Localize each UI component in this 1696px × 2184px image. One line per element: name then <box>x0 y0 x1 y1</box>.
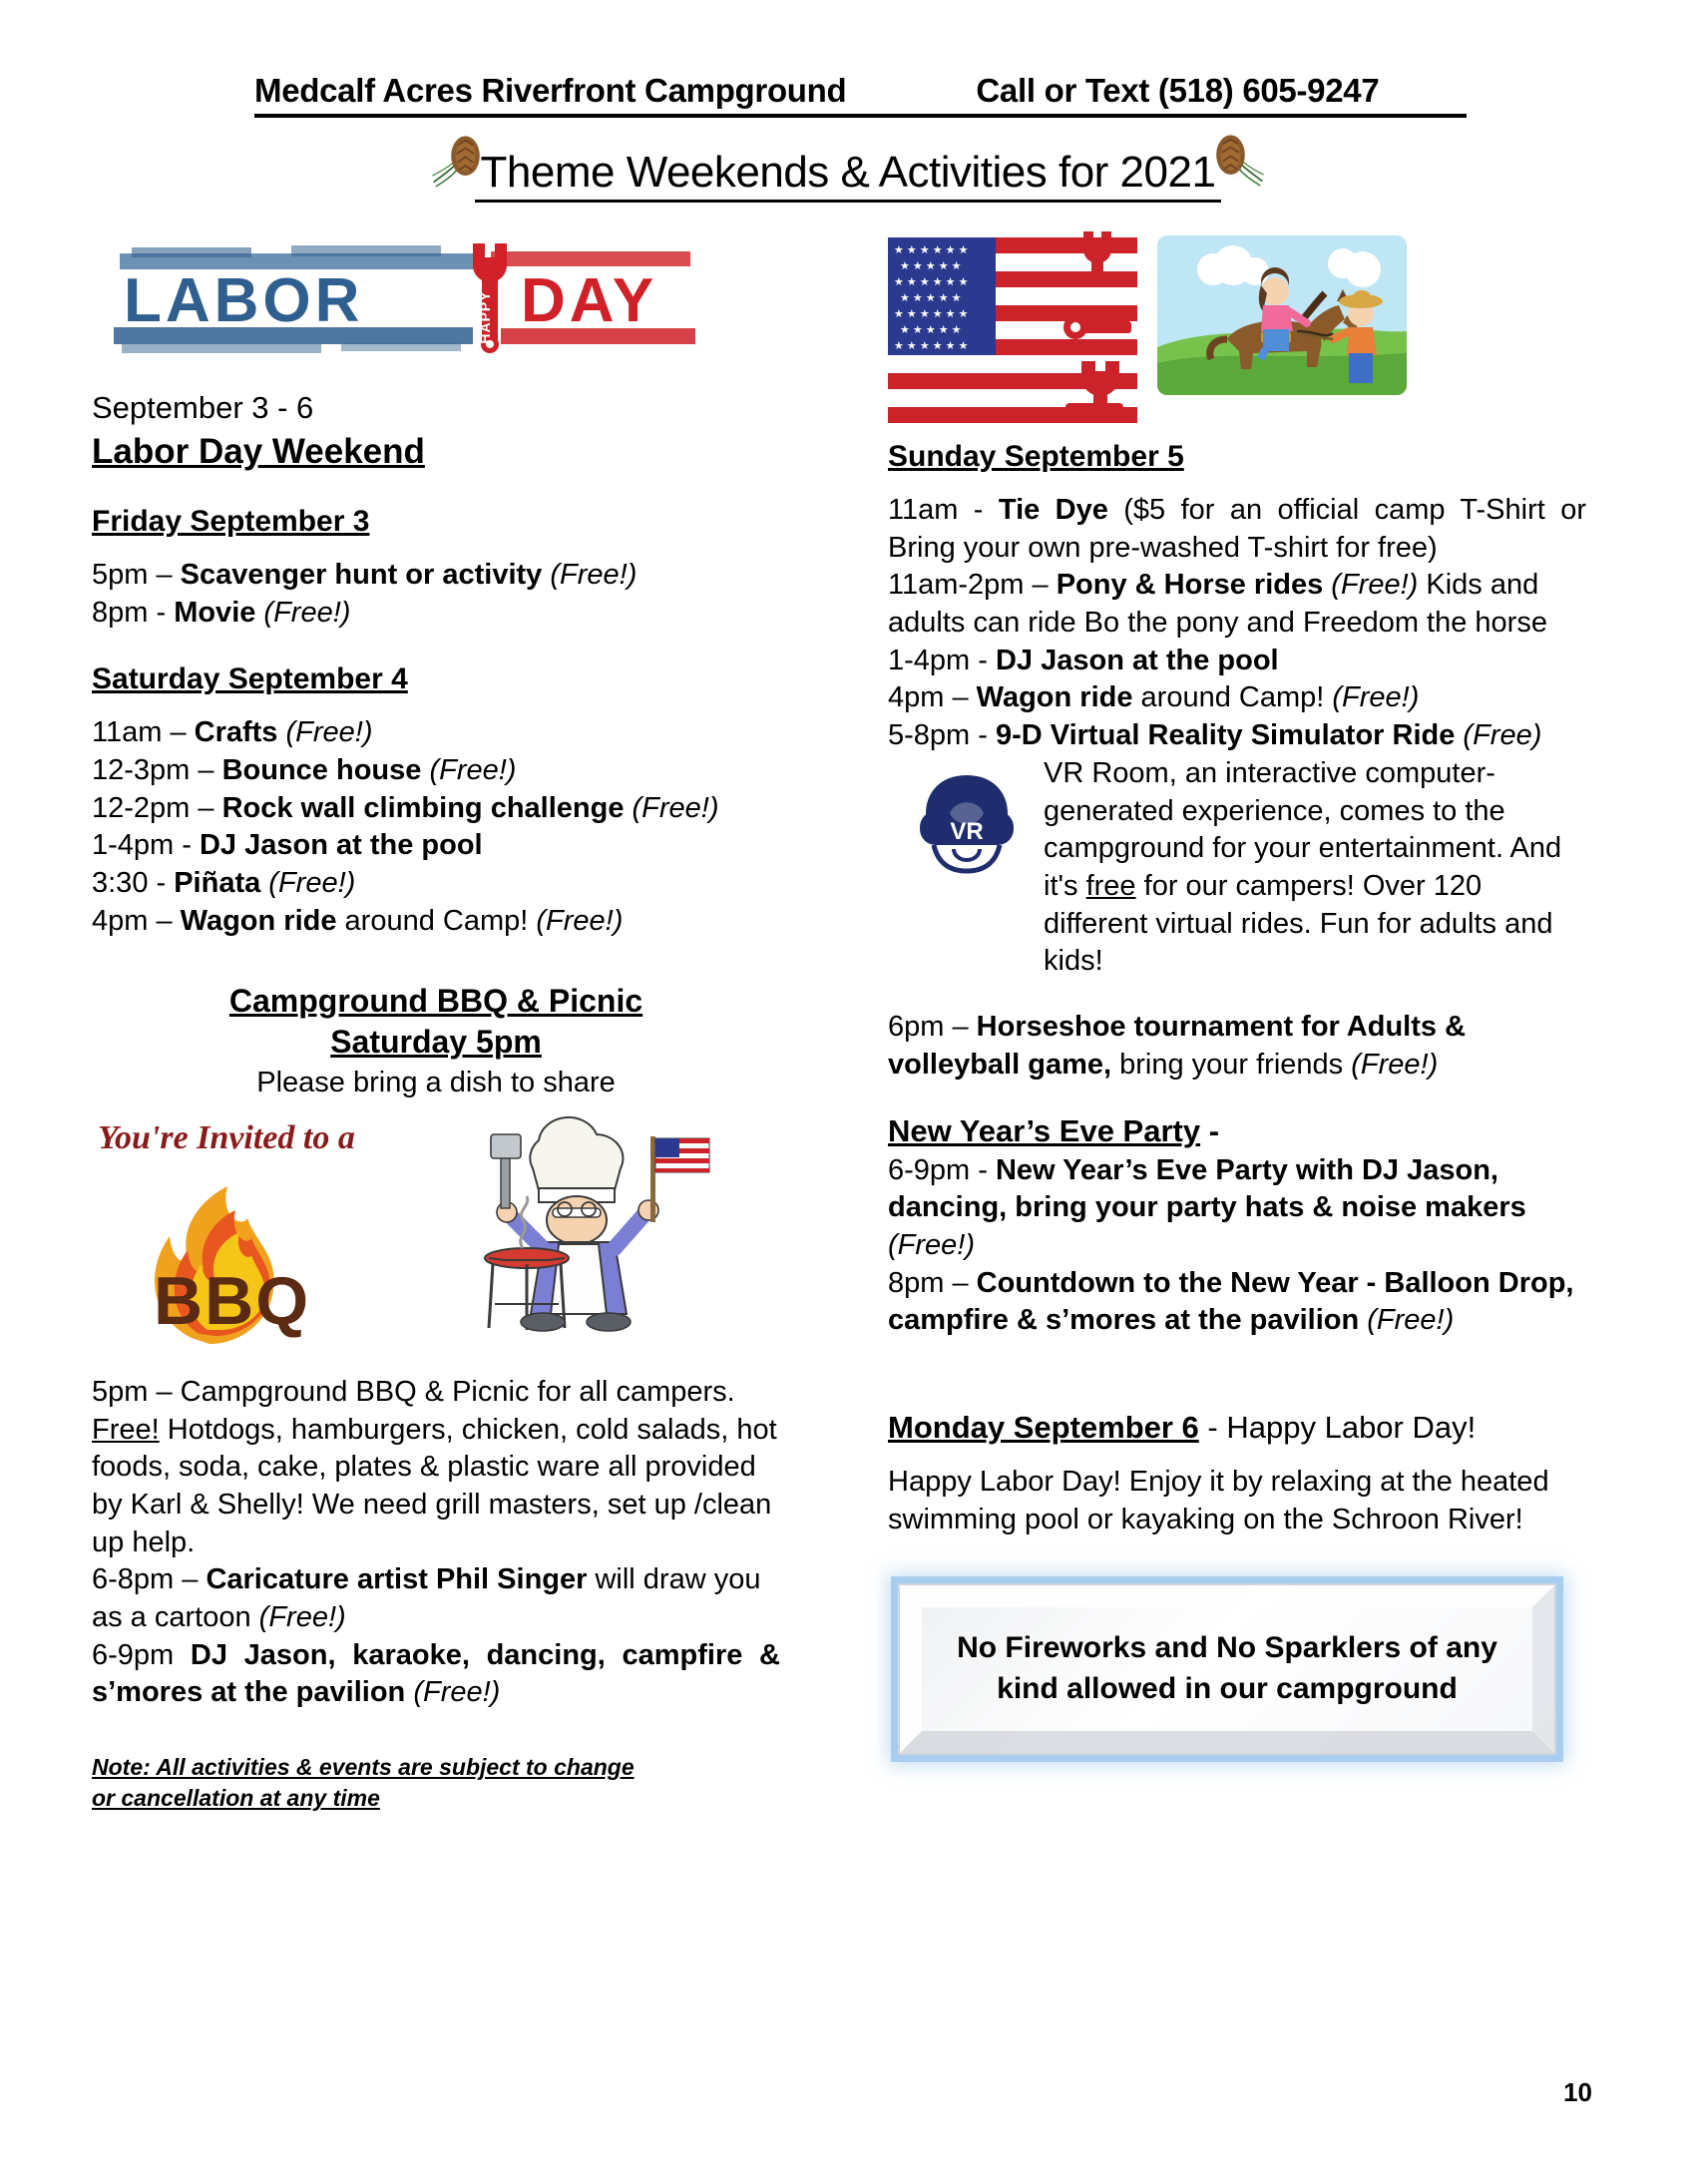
saturday-heading: Saturday September 4 <box>92 659 780 698</box>
campground-name: Medcalf Acres Riverfront Campground <box>254 72 846 110</box>
nye-heading-row: New Year’s Eve Party - <box>888 1111 1586 1151</box>
bbq-headline: Campground BBQ & Picnic Saturday 5pm Ple… <box>92 981 780 1102</box>
svg-text:HAPPY: HAPPY <box>477 290 493 343</box>
bbq-title-line1: Campground BBQ & Picnic <box>229 983 642 1019</box>
page-number: 10 <box>1563 2077 1592 2108</box>
svg-text:LABOR: LABOR <box>124 266 363 335</box>
vr-description-text: VR Room, an interactive computer-generat… <box>1044 755 1586 981</box>
dj-pool-item: 1-4pm - DJ Jason at the pool <box>888 643 1586 680</box>
disclaimer-note: Note: All activities & events are subjec… <box>92 1752 650 1814</box>
pony-rides-item: 11am-2pm – Pony & Horse rides (Free!) Ki… <box>888 567 1586 642</box>
nye-heading-suffix: - <box>1200 1113 1219 1148</box>
flyer-page: Medcalf Acres Riverfront Campground Call… <box>0 0 1696 2184</box>
vr-ride-item: 5-8pm - 9-D Virtual Reality Simulator Ri… <box>888 717 1586 755</box>
contact-phone: Call or Text (518) 605-9247 <box>976 72 1379 110</box>
monday-heading: Monday September 6 <box>888 1410 1199 1445</box>
fireworks-warning-box: No Fireworks and No Sparklers of any kin… <box>898 1583 1556 1755</box>
svg-text:VR: VR <box>950 818 983 845</box>
vr-headset-icon: VR <box>906 757 1028 879</box>
schedule-item: 5pm – Scavenger hunt or activity (Free!) <box>92 557 780 595</box>
nye-item: 6-9pm - New Year’s Eve Party with DJ Jas… <box>888 1152 1586 1265</box>
youre-invited-bbq-graphic: You're Invited to a BBQ <box>92 1108 411 1363</box>
flag-with-tools-graphic: ★ ★ ★ ★ ★ ★ ★ ★ ★ ★ ★ ★ ★ ★ ★ ★ ★ ★ ★ ★ … <box>888 231 1137 431</box>
schedule-item: 8pm - Movie (Free!) <box>92 595 780 633</box>
dj-karaoke-item: 6-9pm DJ Jason, karaoke, dancing, campfi… <box>92 1637 780 1712</box>
nye-heading: New Year’s Eve Party <box>888 1113 1200 1148</box>
vr-description-block: VR VR Room, an interactive computer-gene… <box>888 755 1586 981</box>
page-title-row: Theme Weekends & Activities for 2021 <box>0 148 1696 203</box>
page-title: Theme Weekends & Activities for 2021 <box>475 148 1222 203</box>
right-column-graphics: ★ ★ ★ ★ ★ ★ ★ ★ ★ ★ ★ ★ ★ ★ ★ ★ ★ ★ ★ ★ … <box>888 231 1586 431</box>
date-range: September 3 - 6 <box>92 388 780 428</box>
svg-text:DAY: DAY <box>521 266 657 335</box>
bbq-detail-body: Free! Hotdogs, hamburgers, chicken, cold… <box>92 1412 780 1562</box>
svg-text:You're Invited to a: You're Invited to a <box>98 1119 355 1156</box>
svg-text:★ ★ ★ ★ ★: ★ ★ ★ ★ ★ <box>900 292 962 304</box>
bbq-graphics: You're Invited to a BBQ <box>92 1108 780 1358</box>
fireworks-warning-text: No Fireworks and No Sparklers of any kin… <box>900 1628 1554 1709</box>
svg-text:★ ★ ★ ★ ★: ★ ★ ★ ★ ★ <box>900 260 962 272</box>
schedule-item: 11am – Crafts (Free!) <box>92 714 780 752</box>
bbq-subtitle: Please bring a dish to share <box>256 1067 616 1098</box>
schedule-item: 1-4pm - DJ Jason at the pool <box>92 827 780 865</box>
monday-body: Happy Labor Day! Enjoy it by relaxing at… <box>888 1464 1586 1538</box>
svg-text:★ ★ ★ ★ ★ ★: ★ ★ ★ ★ ★ ★ <box>894 276 969 288</box>
pony-ride-graphic <box>1157 235 1407 395</box>
svg-text:★ ★ ★ ★ ★ ★: ★ ★ ★ ★ ★ ★ <box>894 340 969 352</box>
sunday-heading: Sunday September 5 <box>888 437 1586 476</box>
schedule-item: 4pm – Wagon ride around Camp! (Free!) <box>92 903 780 941</box>
bbq-title-line2: Saturday 5pm <box>330 1024 542 1060</box>
schedule-item: 12-3pm – Bounce house (Free!) <box>92 752 780 790</box>
horseshoe-item: 6pm – Horseshoe tournament for Adults & … <box>888 1009 1586 1084</box>
left-column: LABOR DAY HAPPY September 3 - 6 Labor Da… <box>92 231 780 1814</box>
schedule-item: 12-2pm – Rock wall climbing challenge (F… <box>92 790 780 828</box>
caricature-item: 6-8pm – Caricature artist Phil Singer wi… <box>92 1561 780 1636</box>
svg-text:★ ★ ★ ★ ★ ★: ★ ★ ★ ★ ★ ★ <box>894 244 969 256</box>
right-column: ★ ★ ★ ★ ★ ★ ★ ★ ★ ★ ★ ★ ★ ★ ★ ★ ★ ★ ★ ★ … <box>888 231 1586 1755</box>
pinecone-icon <box>1203 131 1269 197</box>
svg-text:★ ★ ★ ★ ★ ★: ★ ★ ★ ★ ★ ★ <box>894 308 969 320</box>
monday-heading-rest: - Happy Labor Day! <box>1199 1410 1476 1445</box>
svg-text:★ ★ ★ ★ ★: ★ ★ ★ ★ ★ <box>900 324 962 336</box>
schedule-item: 3:30 - Piñata (Free!) <box>92 865 780 903</box>
nye-item: 8pm – Countdown to the New Year - Balloo… <box>888 1265 1586 1340</box>
weekend-title: Labor Day Weekend <box>92 430 780 474</box>
svg-text:BBQ: BBQ <box>154 1263 310 1339</box>
tie-dye-item: 11am - Tie Dye ($5 for an official camp … <box>888 492 1586 567</box>
wagon-ride-item: 4pm – Wagon ride around Camp! (Free!) <box>888 679 1586 717</box>
monday-heading-row: Monday September 6 - Happy Labor Day! <box>888 1408 1586 1448</box>
friday-heading: Friday September 3 <box>92 502 780 541</box>
bbq-detail-line: 5pm – Campground BBQ & Picnic for all ca… <box>92 1374 780 1412</box>
chef-grill-graphic <box>419 1108 718 1363</box>
labor-day-banner: LABOR DAY HAPPY <box>92 231 710 366</box>
page-header: Medcalf Acres Riverfront Campground Call… <box>254 72 1467 118</box>
